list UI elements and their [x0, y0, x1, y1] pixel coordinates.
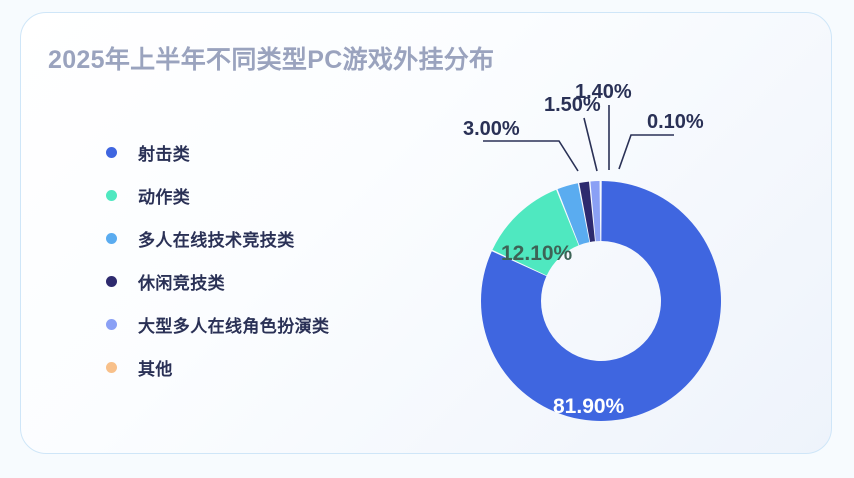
legend-dot-icon — [106, 190, 117, 201]
slice-value-action: 12.10% — [501, 242, 573, 265]
legend-item-label: 大型多人在线角色扮演类 — [138, 312, 329, 337]
legend-dot-icon — [106, 319, 117, 330]
legend-item-label: 动作类 — [138, 183, 190, 208]
legend-item-label: 多人在线技术竞技类 — [138, 226, 295, 251]
page-title: 2025年上半年不同类型PC游戏外挂分布 — [48, 40, 494, 76]
chart-card: 2025年上半年不同类型PC游戏外挂分布 射击类 动作类 多人在线技术竞技类 休… — [20, 12, 832, 454]
legend-item-label: 射击类 — [138, 140, 190, 165]
slice-value-other: 0.10% — [647, 111, 704, 133]
legend-item-mmorpg[interactable]: 大型多人在线角色扮演类 — [106, 303, 426, 346]
donut-chart: 3.00% 1.50% 1.40% 0.10% 12.10% 81.90% — [441, 73, 801, 443]
leader-line-other — [619, 135, 674, 169]
legend-item-other[interactable]: 其他 — [106, 346, 426, 389]
legend-dot-icon — [106, 276, 117, 287]
slice-value-shooting: 81.90% — [553, 395, 625, 418]
legend-item-action[interactable]: 动作类 — [106, 174, 426, 217]
legend-dot-icon — [106, 147, 117, 158]
slice-value-mmorpg: 1.40% — [575, 81, 632, 103]
leader-line-moba — [483, 141, 578, 171]
leader-line-casual — [584, 118, 597, 171]
donut-chart-svg: 3.00% 1.50% 1.40% 0.10% 12.10% 81.90% — [441, 73, 801, 443]
legend-dot-icon — [106, 362, 117, 373]
legend-item-shooting[interactable]: 射击类 — [106, 131, 426, 174]
legend-item-label: 其他 — [138, 355, 173, 380]
donut-slices — [481, 181, 721, 421]
legend-dot-icon — [106, 233, 117, 244]
slice-value-moba: 3.00% — [463, 118, 520, 140]
legend-item-moba[interactable]: 多人在线技术竞技类 — [106, 217, 426, 260]
chart-legend: 射击类 动作类 多人在线技术竞技类 休闲竞技类 大型多人在线角色扮演类 其他 — [106, 131, 426, 389]
legend-item-label: 休闲竞技类 — [138, 269, 225, 294]
legend-item-casual[interactable]: 休闲竞技类 — [106, 260, 426, 303]
